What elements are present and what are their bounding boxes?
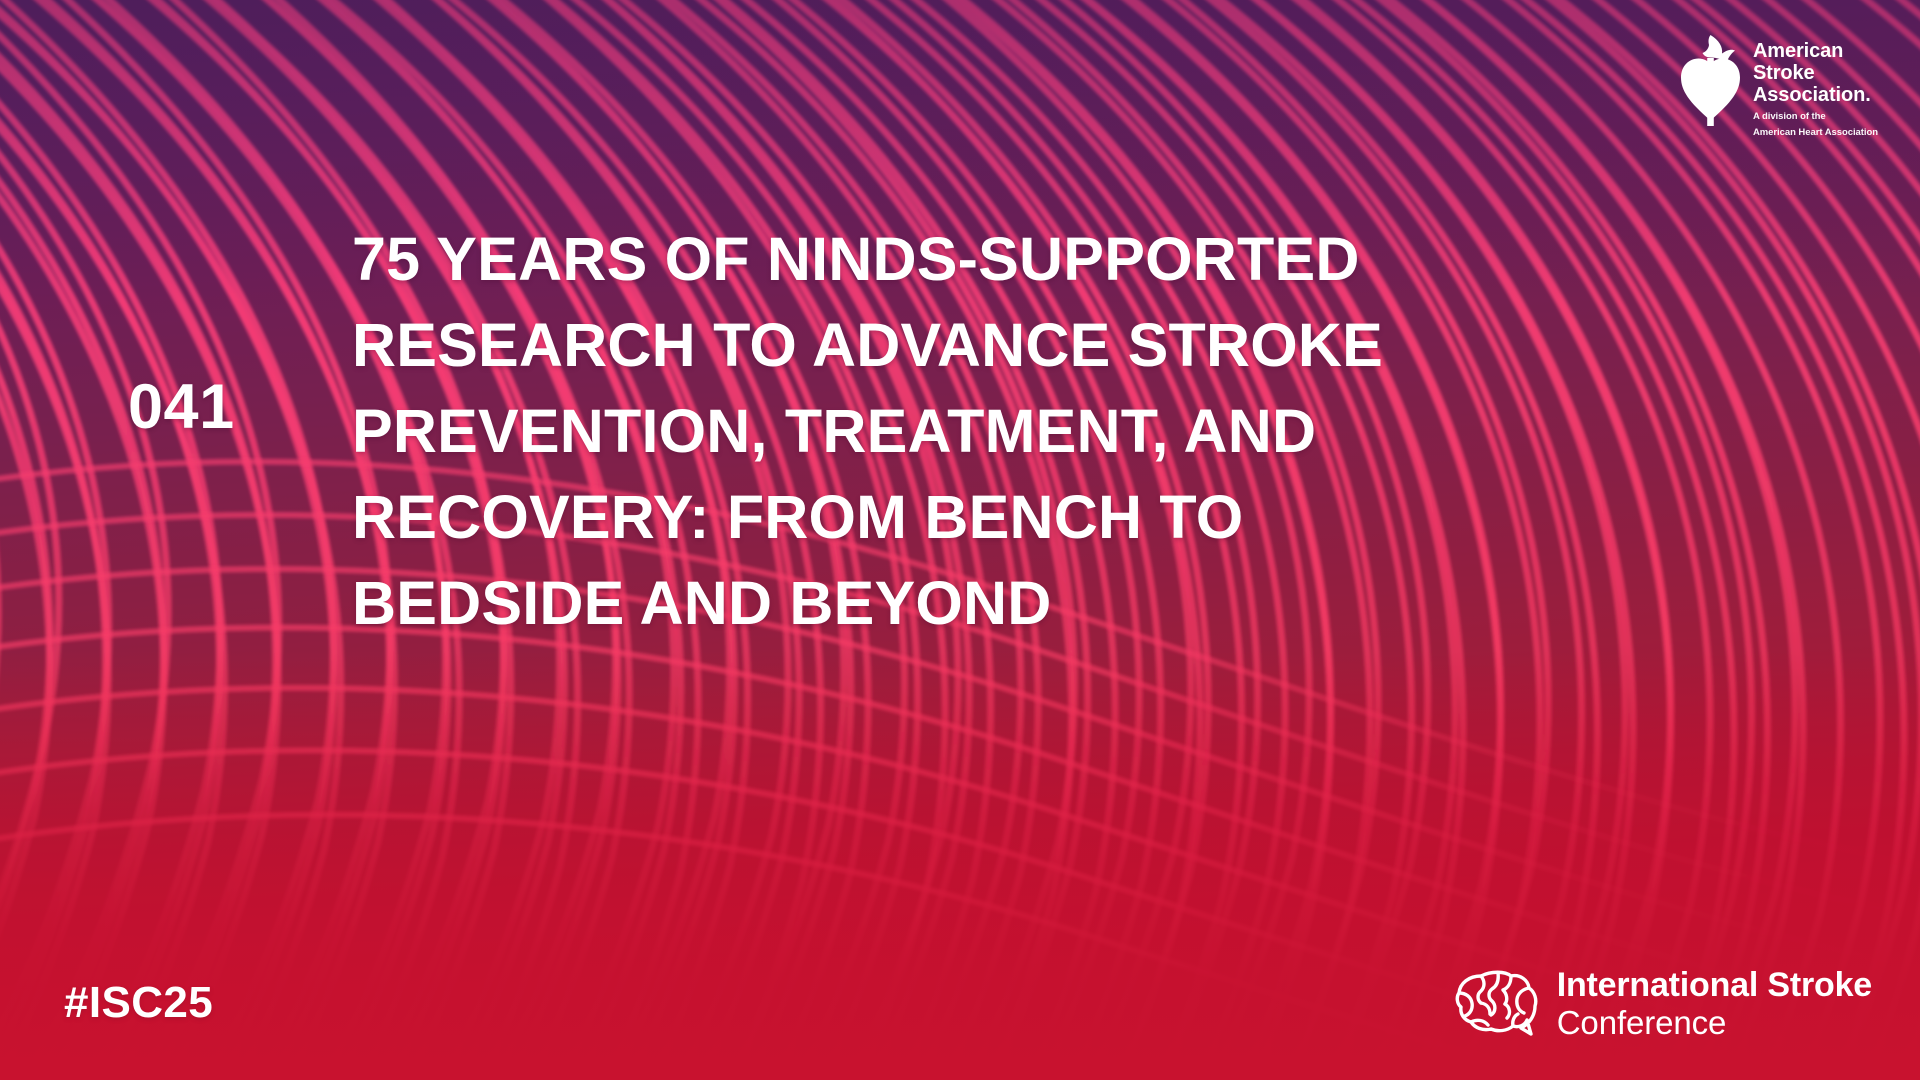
session-title: 75 YEARS OF NINDS-SUPPORTED RESEARCH TO … xyxy=(352,216,1612,646)
international-stroke-conference-logo: International Stroke Conference xyxy=(1455,966,1872,1042)
asa-logo-text: American Stroke Association. A division … xyxy=(1753,34,1878,138)
title-line: 75 YEARS OF NINDS-SUPPORTED xyxy=(352,216,1612,302)
title-line: RESEARCH TO ADVANCE STROKE xyxy=(352,302,1612,388)
title-line: RECOVERY: FROM BENCH TO xyxy=(352,474,1612,560)
session-number: 041 xyxy=(128,376,368,439)
isc-logo-text: International Stroke Conference xyxy=(1557,966,1872,1042)
isc-name-line1: International Stroke xyxy=(1557,966,1872,1004)
brain-outline-icon xyxy=(1455,968,1541,1040)
american-stroke-association-logo: American Stroke Association. A division … xyxy=(1679,34,1878,138)
presentation-slide: 041 75 YEARS OF NINDS-SUPPORTED RESEARCH… xyxy=(0,0,1920,1080)
title-line: PREVENTION, TREATMENT, AND xyxy=(352,388,1612,474)
heart-with-torch-icon xyxy=(1679,34,1741,126)
asa-name-line3: Association. xyxy=(1753,84,1878,106)
asa-name-line2: Stroke xyxy=(1753,62,1878,84)
isc-name-line2: Conference xyxy=(1557,1004,1872,1042)
event-hashtag: #ISC25 xyxy=(64,978,213,1028)
title-line: BEDSIDE AND BEYOND xyxy=(352,560,1612,646)
asa-name-line1: American xyxy=(1753,40,1878,62)
asa-division-line2: American Heart Association xyxy=(1753,127,1878,138)
asa-division-line1: A division of the xyxy=(1753,111,1878,122)
